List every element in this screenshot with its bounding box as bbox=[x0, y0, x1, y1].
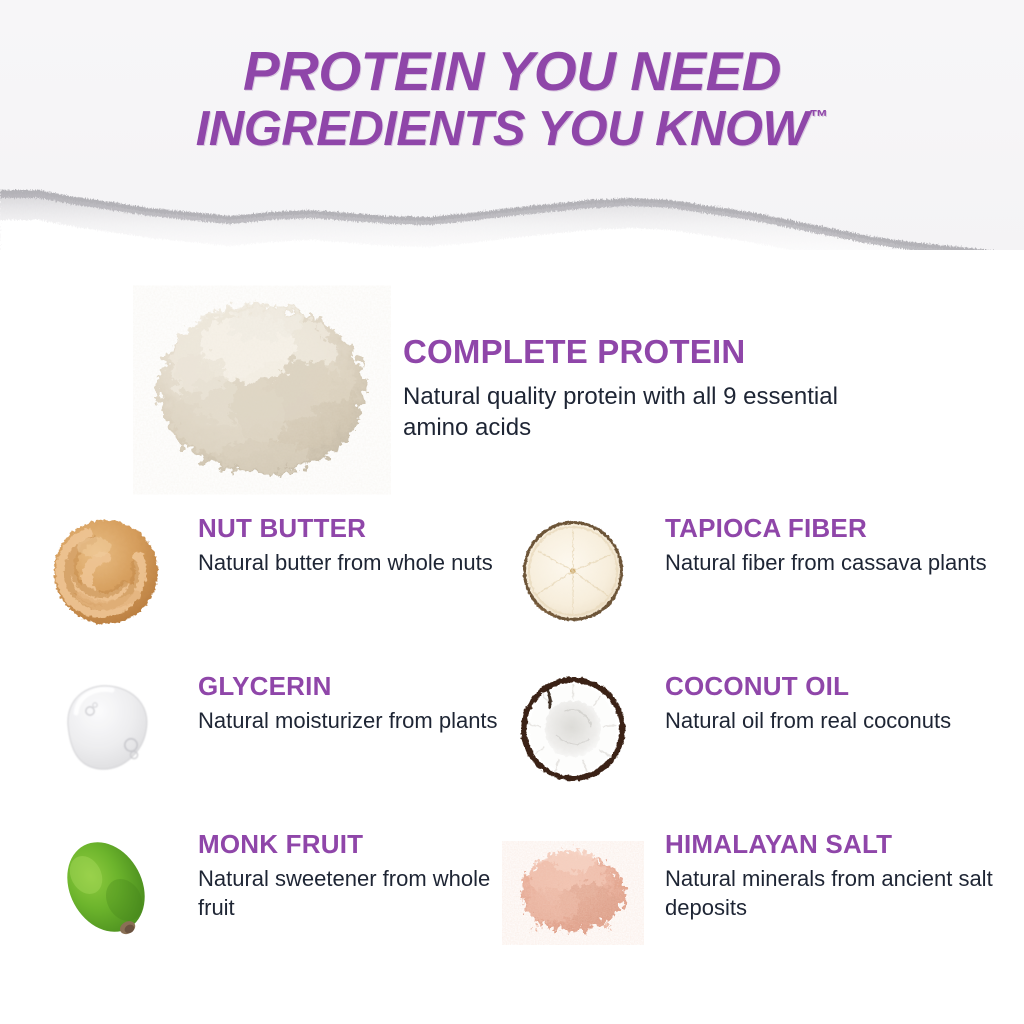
ingredient-title: TAPIOCA FIBER bbox=[665, 515, 995, 542]
ingredient-description: Natural sweetener from whole fruit bbox=[198, 865, 516, 922]
hero-item-complete-protein: COMPLETE PROTEIN Natural quality protein… bbox=[0, 260, 1024, 490]
ingredient-item-himalayan-salt: HIMALAYAN SALT Natural minerals from anc… bbox=[513, 821, 983, 971]
ingredient-row: MONK FRUIT Natural sweetener from whole … bbox=[0, 821, 1024, 979]
title-line-2: INGREDIENTS YOU KNOW™ bbox=[0, 105, 1024, 154]
ingredient-item-coconut-oil: COCONUT OIL Natural oil from real coconu… bbox=[513, 663, 983, 813]
ingredient-title: COCONUT OIL bbox=[665, 673, 995, 700]
ingredient-description: Natural oil from real coconuts bbox=[665, 707, 995, 736]
trademark-symbol: ™ bbox=[809, 107, 828, 128]
ingredient-grid: NUT BUTTER Natural butter from whole nut… bbox=[0, 505, 1024, 979]
page-title: PROTEIN YOU NEED INGREDIENTS YOU KNOW™ bbox=[0, 44, 1024, 154]
ingredients-infographic: PROTEIN YOU NEED INGREDIENTS YOU KNOW™ bbox=[0, 0, 1024, 1024]
title-line-1: PROTEIN YOU NEED bbox=[0, 44, 1024, 99]
ingredient-title: HIMALAYAN SALT bbox=[665, 831, 995, 858]
ingredient-text-block: COCONUT OIL Natural oil from real coconu… bbox=[665, 673, 995, 736]
protein-powder-pile-icon bbox=[143, 278, 381, 488]
nut-butter-swirl-icon bbox=[46, 511, 166, 631]
ingredient-description: Natural butter from whole nuts bbox=[198, 549, 516, 578]
ingredient-title: MONK FRUIT bbox=[198, 831, 516, 858]
title-line-2-text: INGREDIENTS YOU KNOW bbox=[196, 102, 809, 156]
ingredient-item-tapioca-fiber: TAPIOCA FIBER Natural fiber from cassava… bbox=[513, 505, 983, 655]
ingredient-text-block: TAPIOCA FIBER Natural fiber from cassava… bbox=[665, 515, 995, 578]
ingredient-item-monk-fruit: MONK FRUIT Natural sweetener from whole … bbox=[46, 821, 516, 971]
ingredient-title: NUT BUTTER bbox=[198, 515, 516, 542]
ingredient-text-block: HIMALAYAN SALT Natural minerals from anc… bbox=[665, 831, 995, 922]
ingredients-content: COMPLETE PROTEIN Natural quality protein… bbox=[0, 250, 1024, 1024]
ingredient-row: GLYCERIN Natural moisturizer from plants bbox=[0, 663, 1024, 821]
ingredient-item-glycerin: GLYCERIN Natural moisturizer from plants bbox=[46, 663, 516, 813]
glycerin-gel-drop-icon bbox=[46, 669, 166, 789]
ingredient-item-nut-butter: NUT BUTTER Natural butter from whole nut… bbox=[46, 505, 516, 655]
ingredient-description: Natural minerals from ancient salt depos… bbox=[665, 865, 995, 922]
hero-title: COMPLETE PROTEIN bbox=[403, 335, 873, 370]
hero-text-block: COMPLETE PROTEIN Natural quality protein… bbox=[403, 335, 873, 444]
hero-description: Natural quality protein with all 9 essen… bbox=[403, 381, 873, 444]
himalayan-salt-pile-icon bbox=[513, 827, 633, 947]
ingredient-row: NUT BUTTER Natural butter from whole nut… bbox=[0, 505, 1024, 663]
monk-fruit-icon bbox=[46, 827, 166, 947]
coconut-half-icon bbox=[513, 669, 633, 789]
tapioca-cassava-slice-icon bbox=[513, 511, 633, 631]
ingredient-description: Natural moisturizer from plants bbox=[198, 707, 516, 736]
ingredient-text-block: GLYCERIN Natural moisturizer from plants bbox=[198, 673, 516, 736]
ingredient-text-block: MONK FRUIT Natural sweetener from whole … bbox=[198, 831, 516, 922]
header-band: PROTEIN YOU NEED INGREDIENTS YOU KNOW™ bbox=[0, 0, 1024, 250]
ingredient-text-block: NUT BUTTER Natural butter from whole nut… bbox=[198, 515, 516, 578]
ingredient-title: GLYCERIN bbox=[198, 673, 516, 700]
ingredient-description: Natural fiber from cassava plants bbox=[665, 549, 995, 578]
